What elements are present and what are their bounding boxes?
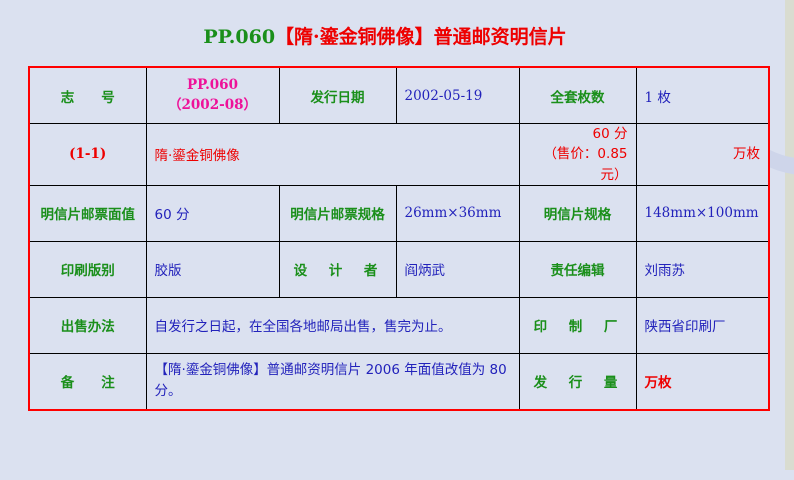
value-issue-quantity: 万枚 <box>636 353 769 410</box>
postcard-spec-table: 志 号 PP.060 （2002-08） 发行日期 2002-05-19 全套枚… <box>28 66 770 411</box>
label-issue-quantity: 发 行 量 <box>519 353 636 410</box>
label-print-type: 印刷版别 <box>29 241 146 297</box>
value-face-line2: （售价：0.85 元） <box>528 144 628 185</box>
label-designer: 设 计 者 <box>279 241 396 297</box>
value-stamp-size: 26mm×36mm <box>396 185 519 241</box>
label-remarks: 备 注 <box>29 353 146 410</box>
label-code: 志 号 <box>29 67 146 124</box>
value-print-type: 胶版 <box>146 241 279 297</box>
label-card-size: 明信片规格 <box>519 185 636 241</box>
value-face-value: 60 分 （售价：0.85 元） <box>519 124 636 186</box>
value-issue-date: 2002-05-19 <box>396 67 519 124</box>
value-code-line2: （2002-08） <box>155 96 271 116</box>
page-background: 集邮天地 PP.060【隋·鎏金铜佛像】普通邮资明信片 志 号 PP.060 （… <box>0 0 794 470</box>
table-row: 志 号 PP.060 （2002-08） 发行日期 2002-05-19 全套枚… <box>29 67 769 124</box>
label-stamp-value: 明信片邮票面值 <box>29 185 146 241</box>
value-remarks: 【隋·鎏金铜佛像】普通邮资明信片 2006 年面值改值为 80 分。 <box>146 353 519 410</box>
value-face-line1: 60 分 <box>528 124 628 144</box>
page-title: PP.060【隋·鎏金铜佛像】普通邮资明信片 <box>0 22 770 49</box>
label-sequence: (1-1) <box>29 124 146 186</box>
value-quantity: 万枚 <box>636 124 769 186</box>
table-row: 明信片邮票面值 60 分 明信片邮票规格 26mm×36mm 明信片规格 148… <box>29 185 769 241</box>
page-title-name: 【隋·鎏金铜佛像】普通邮资明信片 <box>275 26 567 48</box>
table-row: (1-1) 隋·鎏金铜佛像 60 分 （售价：0.85 元） 万枚 <box>29 124 769 186</box>
table-row: 印刷版别 胶版 设 计 者 阎炳武 责任编辑 刘雨苏 <box>29 241 769 297</box>
value-set-count: 1 枚 <box>636 67 769 124</box>
label-issue-date: 发行日期 <box>279 67 396 124</box>
value-card-size: 148mm×100mm <box>636 185 769 241</box>
value-editor: 刘雨苏 <box>636 241 769 297</box>
table-row: 备 注 【隋·鎏金铜佛像】普通邮资明信片 2006 年面值改值为 80 分。 发… <box>29 353 769 410</box>
value-code-line1: PP.060 <box>155 76 271 96</box>
value-designer: 阎炳武 <box>396 241 519 297</box>
label-sale-method: 出售办法 <box>29 297 146 353</box>
value-sale-method: 自发行之日起，在全国各地邮局出售，售完为止。 <box>146 297 519 353</box>
label-stamp-size: 明信片邮票规格 <box>279 185 396 241</box>
table-row: 出售办法 自发行之日起，在全国各地邮局出售，售完为止。 印 制 厂 陕西省印刷厂 <box>29 297 769 353</box>
label-editor: 责任编辑 <box>519 241 636 297</box>
value-stamp-value: 60 分 <box>146 185 279 241</box>
value-subject: 隋·鎏金铜佛像 <box>146 124 519 186</box>
page-title-code: PP.060 <box>203 26 275 48</box>
label-set-count: 全套枚数 <box>519 67 636 124</box>
value-code: PP.060 （2002-08） <box>146 67 279 124</box>
value-printer: 陕西省印刷厂 <box>636 297 769 353</box>
label-printer: 印 制 厂 <box>519 297 636 353</box>
